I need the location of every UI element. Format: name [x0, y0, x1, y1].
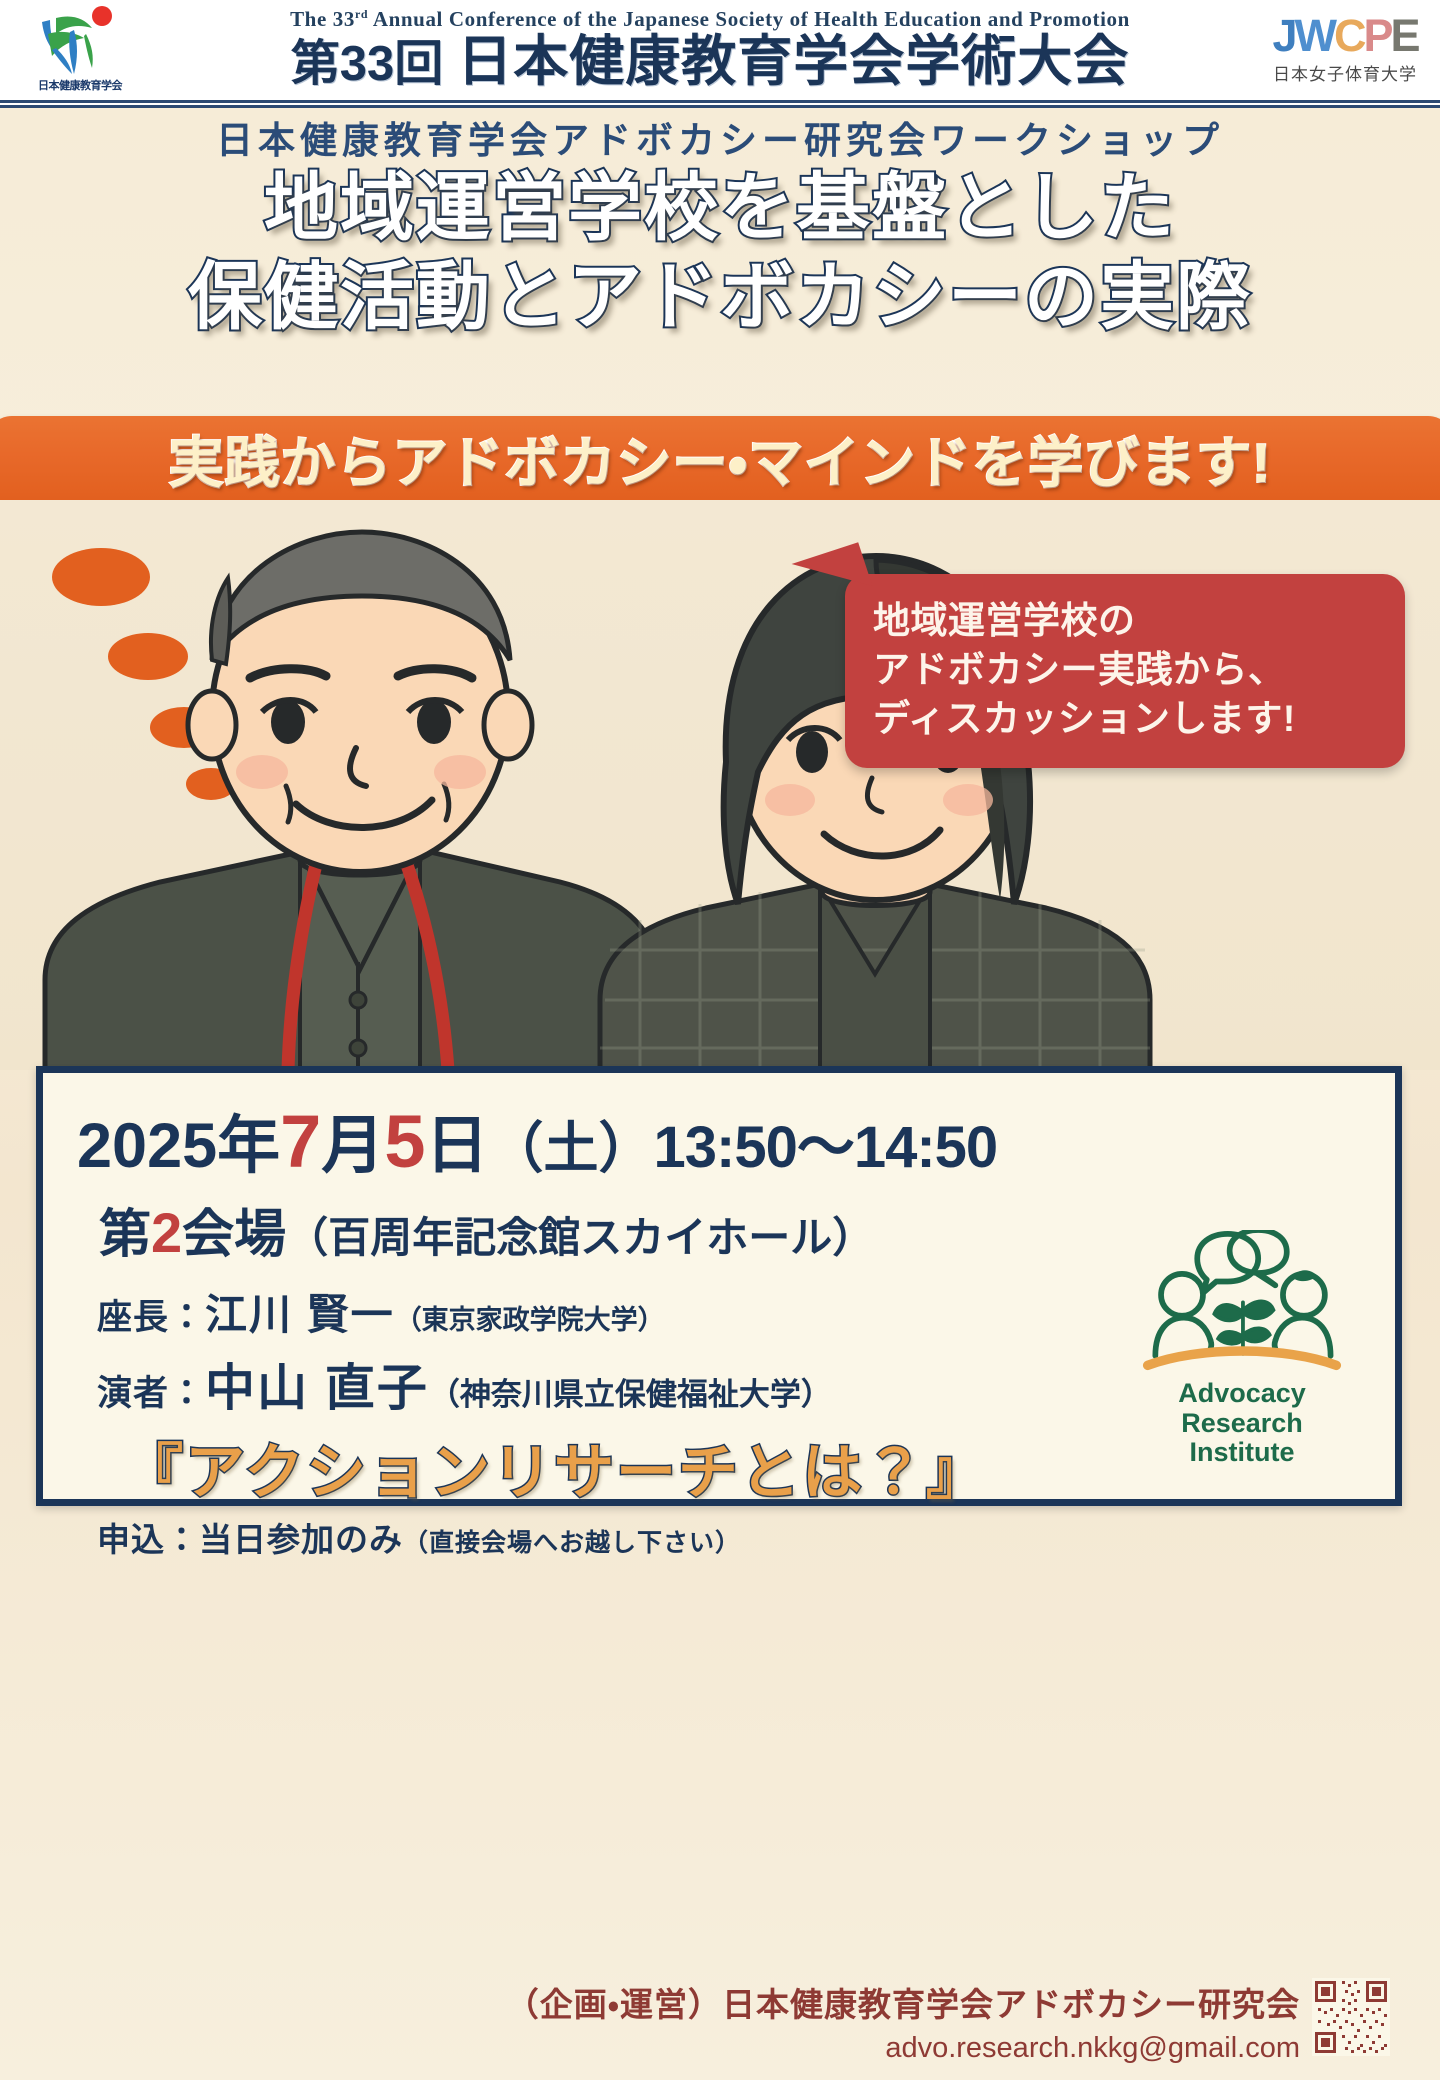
- conference-title-en: The 33rd Annual Conference of the Japane…: [290, 8, 1130, 30]
- venue-number: 2: [151, 1201, 182, 1264]
- ari-logo-line1: Advocacy: [1137, 1380, 1347, 1408]
- conference-edition-ja: 第33回: [291, 37, 444, 91]
- society-logo-caption: 日本健康教育学会: [38, 77, 122, 93]
- chair-affiliation: （東京家政学院大学）: [395, 1305, 665, 1335]
- poster-footer: （企画・運営）日本健康教育学会アドボカシー研究会 advo.research.n…: [0, 1968, 1440, 2080]
- event-day-number: 5: [384, 1100, 425, 1183]
- event-details-box: 2025年7月5日（土）13:50〜14:50 第2会場（百周年記念館スカイホー…: [36, 1066, 1402, 1506]
- advocacy-research-institute-logo: Advocacy Research Institute: [1137, 1230, 1347, 1467]
- footer-organizer: （企画・運営）日本健康教育学会アドボカシー研究会: [506, 1978, 1300, 2026]
- conference-name-ja: 日本健康教育学会学術大会: [457, 30, 1129, 92]
- conference-header: 日本健康教育学会 The 33rd Annual Conference of t…: [0, 0, 1440, 100]
- logo-letter-p: P: [1363, 10, 1390, 61]
- event-month-number: 7: [280, 1100, 321, 1183]
- poster-title-line2: 保健活動とアドボカシーの実際: [0, 253, 1440, 342]
- ari-logo-line2: Research: [1137, 1410, 1347, 1438]
- event-year: 2025年: [77, 1111, 280, 1181]
- conference-title-en-rest: Annual Conference of the Japanese Societ…: [368, 7, 1130, 31]
- ari-logo-line3: Institute: [1137, 1439, 1347, 1467]
- conference-title-en-text: The: [290, 7, 333, 31]
- conference-ordinal-suffix: rd: [355, 7, 368, 21]
- application-note: （直接会場へお越し下さい）: [403, 1529, 741, 1557]
- conference-title-ja: 第33回日本健康教育学会学術大会: [291, 32, 1130, 91]
- venue-detail: （百周年記念館スカイホール）: [286, 1214, 874, 1261]
- logo-letter-e: E: [1391, 10, 1418, 61]
- event-weekday: （土）: [488, 1117, 653, 1179]
- university-name-ja: 日本女子体育大学: [1273, 60, 1417, 85]
- speaker-name: 中山 直子: [205, 1360, 429, 1416]
- orange-banner: 実践からアドボカシー・マインドを学びます!: [0, 416, 1440, 500]
- society-logo-mark: [26, 4, 134, 76]
- conference-title-block: The 33rd Annual Conference of the Japane…: [160, 8, 1250, 91]
- university-logo-letters: JWCPE: [1272, 15, 1417, 58]
- poster-title: 地域運営学校を基盤とした 保健活動とアドボカシーの実際: [0, 164, 1440, 342]
- chair-role: 座長：: [97, 1298, 205, 1337]
- poster-body: 日本健康教育学会アドボカシー研究会ワークショップ 地域運営学校を基盤とした 保健…: [0, 108, 1440, 2080]
- speech-bubble-line3: ディスカッションします!: [873, 694, 1381, 743]
- footer-text-block: （企画・運営）日本健康教育学会アドボカシー研究会 advo.research.n…: [506, 1978, 1300, 2065]
- speech-bubble: 地域運営学校の アドボカシー実践から、 ディスカッションします!: [845, 574, 1405, 768]
- header-divider: [0, 100, 1440, 108]
- ari-logo-mark: [1142, 1230, 1342, 1373]
- workshop-label: 日本健康教育学会アドボカシー研究会ワークショップ: [0, 110, 1440, 164]
- event-day-unit: 日: [425, 1111, 488, 1181]
- footer-email[interactable]: advo.research.nkkg@gmail.com: [506, 2032, 1300, 2065]
- poster-title-line1: 地域運営学校を基盤とした: [0, 164, 1440, 253]
- venue-suffix: 会場: [182, 1206, 286, 1264]
- venue-prefix: 第: [99, 1206, 151, 1264]
- society-logo: 日本健康教育学会: [0, 0, 160, 100]
- illustration-man: [45, 532, 660, 1070]
- event-details-inner: 2025年7月5日（土）13:50〜14:50 第2会場（百周年記念館スカイホー…: [49, 1079, 1389, 1493]
- application-label: 申込：当日参加のみ: [97, 1521, 403, 1558]
- event-time: 13:50〜14:50: [653, 1115, 997, 1180]
- logo-letter-c: C: [1334, 10, 1364, 61]
- application-line: 申込：当日参加のみ（直接会場へお越し下さい）: [97, 1513, 1361, 1561]
- speech-bubble-line2: アドボカシー実践から、: [873, 645, 1381, 694]
- logo-letter-j: J: [1272, 10, 1294, 61]
- speaker-role: 演者：: [97, 1374, 205, 1413]
- university-logo: JWCPE 日本女子体育大学: [1250, 0, 1440, 100]
- event-date-line: 2025年7月5日（土）13:50〜14:50: [77, 1101, 1361, 1182]
- orange-banner-text: 実践からアドボカシー・マインドを学びます!: [168, 418, 1271, 498]
- logo-letter-w: W: [1295, 10, 1334, 61]
- qr-code[interactable]: [1312, 1978, 1390, 2056]
- speaker-affiliation: （神奈川県立保健福祉大学）: [429, 1377, 832, 1412]
- conference-ordinal-number: 33: [333, 7, 355, 31]
- chair-name: 江川 賢一: [205, 1291, 395, 1338]
- footer-content: （企画・運営）日本健康教育学会アドボカシー研究会 advo.research.n…: [506, 1978, 1390, 2065]
- speech-bubble-line1: 地域運営学校の: [873, 596, 1381, 645]
- event-month-unit: 月: [321, 1111, 384, 1181]
